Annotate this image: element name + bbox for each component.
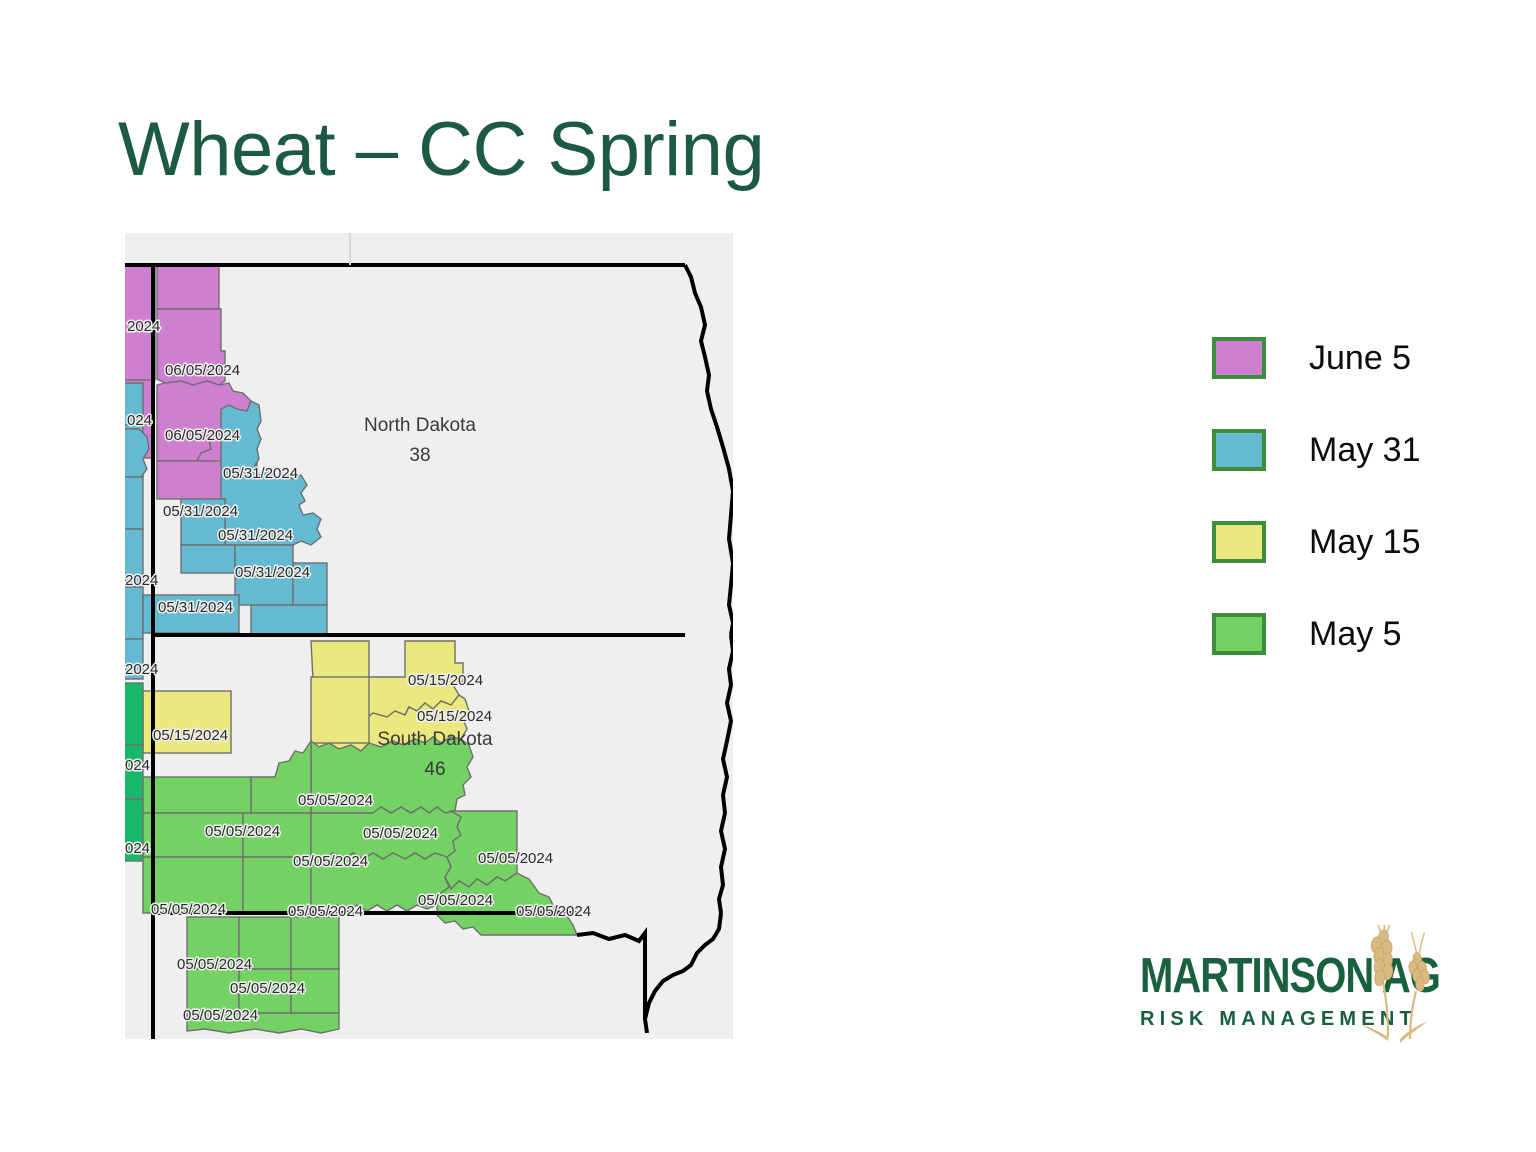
county-date-label: 05/05/2024 <box>177 956 252 973</box>
county-date-label: 05/31/2024 <box>235 564 310 581</box>
county-may5-dark-a <box>125 683 143 745</box>
state-label-south-dakota: South Dakota <box>377 729 493 750</box>
county-may31-c <box>181 545 235 573</box>
county-date-label: 024 <box>125 840 150 857</box>
legend-swatch-may-31 <box>1212 429 1266 471</box>
county-date-label: 2024 <box>127 318 160 335</box>
legend-label-may-31: May 31 <box>1309 431 1421 470</box>
county-date-label: 05/05/2024 <box>478 850 553 867</box>
county-june5-a <box>157 265 219 309</box>
county-date-label: 05/05/2024 <box>298 792 373 809</box>
state-label-north-dakota: North Dakota <box>364 415 476 436</box>
county-date-label: 05/15/2024 <box>408 672 483 689</box>
county-date-label: 05/05/2024 <box>516 903 591 920</box>
county-date-label: 024 <box>127 412 152 429</box>
county-may15-d <box>311 677 369 743</box>
county-may31-edge-c <box>125 429 149 477</box>
legend-swatch-may-5 <box>1212 613 1266 655</box>
map-panel[interactable]: North Dakota 38 South Dakota 46 202406/0… <box>125 233 733 1039</box>
wheat-stalk-icon <box>1348 925 1440 1043</box>
legend-item-may-31[interactable]: May 31 <box>1212 404 1502 496</box>
county-date-label: 05/31/2024 <box>158 599 233 616</box>
county-may5-c <box>143 777 251 813</box>
legend-item-may-5[interactable]: May 5 <box>1212 588 1502 680</box>
county-date-label: 05/31/2024 <box>223 465 298 482</box>
county-may31-edge-f <box>125 587 143 639</box>
legend-label-june-5: June 5 <box>1309 339 1411 378</box>
legend-swatch-june-5 <box>1212 337 1266 379</box>
county-date-label: 05/05/2024 <box>151 901 226 918</box>
county-date-label: 05/31/2024 <box>218 527 293 544</box>
county-date-label: 05/05/2024 <box>230 980 305 997</box>
county-date-label: 05/31/2024 <box>163 503 238 520</box>
county-date-label: 05/05/2024 <box>183 1007 258 1024</box>
legend-item-may-15[interactable]: May 15 <box>1212 496 1502 588</box>
state-code-south-dakota: 46 <box>424 759 445 780</box>
map-graphic[interactable]: North Dakota 38 South Dakota 46 202406/0… <box>125 233 733 1039</box>
county-date-label: 06/05/2024 <box>165 427 240 444</box>
county-date-label: 2024 <box>125 661 158 678</box>
county-date-label: 06/05/2024 <box>165 362 240 379</box>
county-date-label: 024 <box>125 757 150 774</box>
county-date-label: 05/05/2024 <box>288 903 363 920</box>
state-code-north-dakota: 38 <box>409 445 430 466</box>
map-legend: June 5 May 31 May 15 May 5 <box>1212 312 1502 680</box>
county-may5-n <box>291 917 339 969</box>
county-date-label: 05/05/2024 <box>205 823 280 840</box>
legend-label-may-15: May 15 <box>1309 523 1421 562</box>
legend-swatch-may-15 <box>1212 521 1266 563</box>
company-logo: MARTINSON AG RISK MANAGEMENT <box>1140 925 1440 1045</box>
page-title: Wheat – CC Spring <box>118 112 764 188</box>
county-date-label: 2024 <box>125 572 158 589</box>
legend-item-june-5[interactable]: June 5 <box>1212 312 1502 404</box>
county-date-label: 05/05/2024 <box>363 825 438 842</box>
legend-label-may-5: May 5 <box>1309 615 1402 654</box>
county-may31-g <box>251 605 327 635</box>
county-date-label: 05/05/2024 <box>418 892 493 909</box>
county-may31-edge-d <box>125 477 143 529</box>
county-date-label: 05/15/2024 <box>417 708 492 725</box>
county-date-label: 05/15/2024 <box>153 727 228 744</box>
county-date-label: 05/05/2024 <box>293 853 368 870</box>
